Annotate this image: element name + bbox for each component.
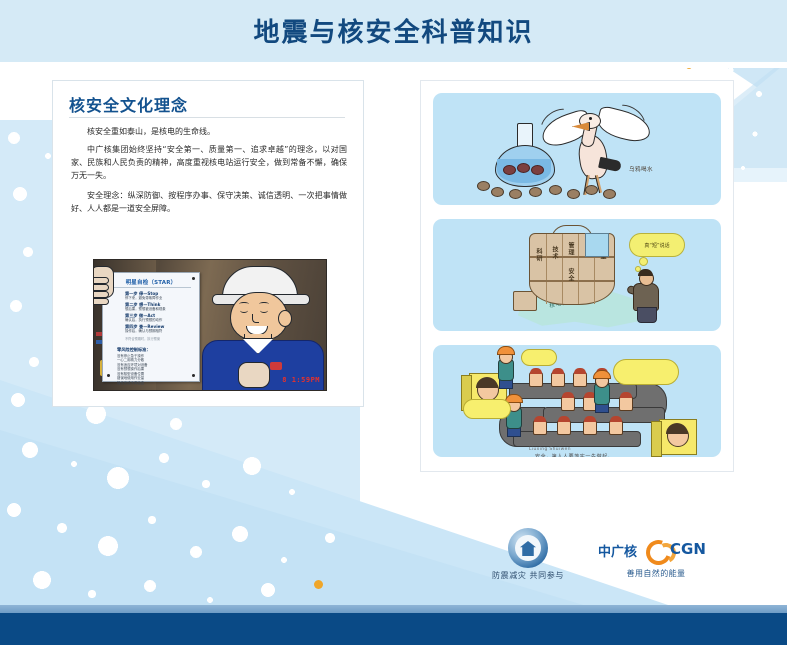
poster-step-2: 第二步 想—Think 想后果，预想被设备和现象 [125, 303, 197, 312]
cgn-caption: 善用自然的能量 [598, 568, 714, 579]
page-title: 地震与核安全科普知识 [0, 12, 787, 49]
cartoon-worker [198, 266, 326, 390]
right-illustration-panel: 乌鸦喝水 核电安全 科研 技术 管理 安全 质量 真“短”说话 [420, 80, 734, 472]
paragraph-1: 核安全重如泰山，是核电的生命线。 [71, 125, 347, 138]
bucket-short-board [585, 233, 609, 257]
illustration-card-crow: 乌鸦喝水 [433, 93, 721, 205]
product-item [557, 419, 571, 435]
product-item [533, 419, 547, 435]
paragraph-3: 安全理念：纵深防御、按程序办事、保守决策、诚信透明、一次把事情做好、人人都是一道… [71, 189, 347, 215]
product-item [619, 395, 633, 411]
poster-corner-hole [107, 374, 110, 377]
card-caption-cn: 安全，第人人要落实一先做起。 [535, 453, 613, 457]
pebble-in-flask [517, 163, 530, 173]
disaster-prevention-seal-icon [508, 528, 548, 568]
bird-wing-right [594, 105, 653, 145]
pebble [509, 189, 522, 199]
poster-step-4-desc: 操作后，确认与预期相符 [125, 330, 197, 334]
star-poster: 明星自检（STAR） 第一步 停—Stop 停下来，避免带故障作业 第二步 想—… [102, 272, 200, 382]
poster-title: 明星自检（STAR） [103, 278, 199, 286]
bucket-stave [562, 234, 563, 304]
worker-photo: 明星自检（STAR） 第一步 停—Stop 停下来，避免带故障作业 第二步 想—… [93, 259, 327, 391]
worker-hand-right [238, 362, 270, 388]
man-hair [638, 269, 653, 276]
product-item [573, 371, 587, 387]
cgn-logo-en: CGN [670, 540, 706, 558]
bottom-dot-pattern [0, 380, 400, 612]
bucket-word: 技术 [550, 246, 559, 260]
yellow-box-side [651, 421, 662, 457]
worker-eye-left [240, 308, 248, 313]
poster-step-2-desc: 想后果，预想被设备和现象 [125, 308, 197, 312]
product-item [551, 371, 565, 387]
poster-step-3-desc: 确认后，执行预想的动作 [125, 319, 197, 323]
bird-eye [589, 117, 592, 120]
pebble [529, 187, 542, 197]
poster-step-3: 第三步 做—Act 确认后，执行预想的动作 [125, 314, 197, 323]
pebble [585, 185, 598, 195]
pebble [603, 189, 616, 199]
pebble [549, 185, 562, 195]
orange-dot-accent-bottom [314, 580, 323, 589]
speech-bubble-dot [639, 257, 648, 266]
worker-brow-right [259, 302, 269, 306]
poster-page: 地震与核安全科普知识 核安全文化理念 核安全重如泰山，是核电的生命线。 中广核集… [0, 0, 787, 645]
poster-step-1-desc: 停下来，避免带故障作业 [125, 297, 197, 301]
bucket-word: 科研 [534, 248, 543, 262]
worker-nose [252, 314, 259, 323]
seal-caption: 防震减灾 共同参与 [492, 570, 564, 581]
speech-bubble [463, 399, 511, 419]
worker-helmet-icon [497, 346, 515, 355]
pebble-in-flask [503, 165, 516, 175]
uniform-logo [270, 362, 282, 370]
worker-brow-left [239, 302, 249, 306]
bucket-stave [578, 234, 579, 304]
pebble [491, 187, 504, 197]
paragraph-2: 中广核集团始终坚持“安全第一、质量第一、追求卓越”的理念，以对国家、民族和人民负… [71, 143, 347, 183]
speech-bubble [521, 349, 557, 366]
product-item [561, 395, 575, 411]
speech-bubble [613, 359, 679, 385]
man-legs [637, 307, 657, 323]
header-underline [0, 62, 787, 68]
left-content-panel: 核安全文化理念 核安全重如泰山，是核电的生命线。 中广核集团始终坚持“安全第一、… [52, 80, 364, 407]
section-title: 核安全文化理念 [69, 92, 188, 116]
cgn-logo-cn: 中广核 [598, 541, 637, 560]
poster-note: 不符合预期时，执行预案 [125, 336, 160, 341]
bucket-word: 安全 [566, 268, 575, 282]
poster-rule [111, 287, 191, 288]
pebble [477, 181, 490, 191]
illustration-card-conveyor: Liuxing Shuiwen 安全，第人人要落实一先做起。 [433, 345, 721, 457]
worker-helmet-icon [593, 370, 611, 379]
photo-timestamp: 8 1:59PM [282, 376, 320, 384]
poster-step-4: 第四步 查—Review 操作后，确认与预期相符 [125, 325, 197, 334]
product-item [529, 371, 543, 387]
poster-list-item: 操作完成不再检查 [117, 381, 148, 385]
footer-bar [0, 613, 787, 645]
poster-step-1: 第一步 停—Stop 停下来，避免带故障作业 [125, 292, 197, 301]
cgn-swirl-icon [646, 540, 668, 558]
speech-bubble: 真“短”说话 [629, 233, 685, 257]
card-caption: 乌鸦喝水 [629, 165, 653, 173]
section-title-rule [69, 117, 345, 118]
cgn-logo: 中广核 CGN [598, 538, 714, 560]
poster-corner-hole [192, 277, 195, 280]
worker-fingers [93, 277, 109, 301]
poster-subtitle: 零风险控制标准： [117, 347, 151, 353]
card-caption-en: Liuxing Shuiwen [529, 447, 571, 452]
worker-ear [278, 310, 292, 327]
product-item [609, 419, 623, 435]
poster-list: 没有停止急于操作 一心二用精力分散 没有适应环境对设备 没有预想操作后果 没有核… [117, 354, 148, 385]
worker-hand-left [93, 266, 114, 298]
pebble [567, 189, 580, 199]
poster-corner-hole [192, 374, 195, 377]
illustration-card-bucket: 核电安全 科研 技术 管理 安全 质量 真“短”说话 [433, 219, 721, 331]
bucket-word: 管理 [566, 242, 575, 256]
worker-eye-right [260, 308, 268, 313]
product-item [583, 419, 597, 435]
bucket-stave [546, 234, 547, 304]
footer-strip [0, 605, 787, 613]
pebble-in-flask [531, 165, 544, 175]
